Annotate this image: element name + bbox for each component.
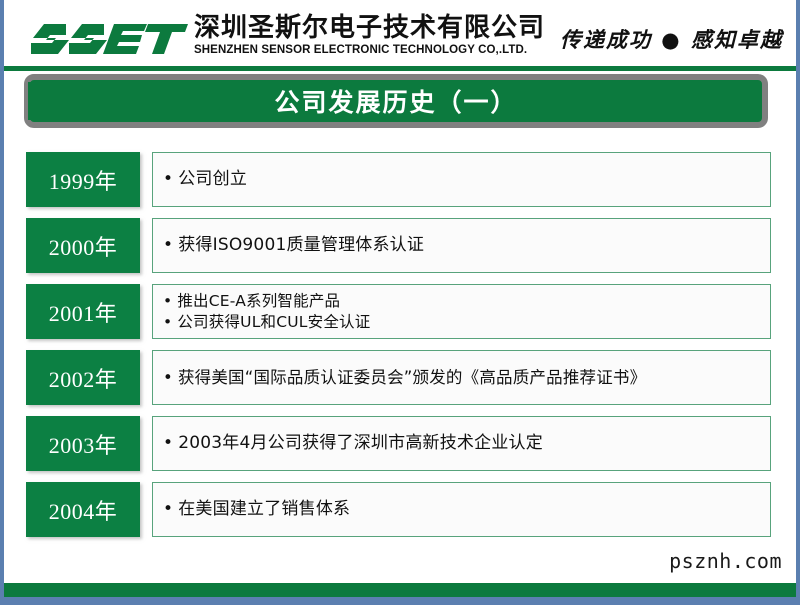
bullet-text: 在美国建立了销售体系	[178, 499, 350, 519]
bullet-item: •获得美国“国际品质认证委员会”颁发的《高品质产品推荐证书》	[163, 367, 770, 389]
sset-logo	[30, 18, 190, 60]
bullet-dot-icon: •	[163, 168, 173, 190]
content-box-2003: •2003年4月公司获得了深圳市高新技术企业认定	[152, 416, 771, 471]
year-chip-2003: 2003年	[26, 416, 140, 471]
year-label: 2002年	[49, 362, 118, 394]
bullet-item: •公司创立	[163, 168, 770, 190]
bullet-item: •在美国建立了销售体系	[163, 498, 770, 520]
content-box-2002: •获得美国“国际品质认证委员会”颁发的《高品质产品推荐证书》	[152, 350, 771, 405]
bullet-text: 推出CE-A系列智能产品	[177, 292, 340, 310]
bullet-dot-icon: •	[163, 312, 172, 333]
content-box-1999: •公司创立	[152, 152, 771, 207]
site-watermark: psznh.com	[669, 549, 782, 573]
company-name-cn: 深圳圣斯尔电子技术有限公司	[194, 14, 544, 42]
bullet-dot-icon: •	[163, 367, 173, 389]
year-label: 2000年	[49, 230, 118, 262]
bullet-item: •2003年4月公司获得了深圳市高新技术企业认定	[163, 432, 770, 454]
timeline-row: 2003年 •2003年4月公司获得了深圳市高新技术企业认定	[4, 416, 800, 471]
timeline-row: 2004年 •在美国建立了销售体系	[4, 482, 800, 537]
bullet-item: •推出CE-A系列智能产品	[163, 291, 770, 312]
timeline-row: 2002年 •获得美国“国际品质认证委员会”颁发的《高品质产品推荐证书》	[4, 350, 800, 405]
year-label: 2003年	[49, 428, 118, 460]
timeline-list: 1999年 •公司创立 2000年 •获得ISO9001质量管理体系认证 200…	[4, 152, 800, 548]
content-box-2001: •推出CE-A系列智能产品 •公司获得UL和CUL安全认证	[152, 284, 771, 339]
year-chip-2002: 2002年	[26, 350, 140, 405]
year-chip-2000: 2000年	[26, 218, 140, 273]
slide-canvas: 深圳圣斯尔电子技术有限公司 SHENZHEN SENSOR ELECTRONIC…	[0, 0, 800, 605]
year-label: 2001年	[49, 296, 118, 328]
bullet-text: 公司创立	[178, 169, 247, 189]
company-slogan: 传递成功 ● 感知卓越	[560, 24, 783, 54]
bullet-item: •获得ISO9001质量管理体系认证	[163, 234, 770, 256]
bullet-text: 获得美国“国际品质认证委员会”颁发的《高品质产品推荐证书》	[178, 368, 646, 387]
footer-blue-band	[4, 597, 796, 605]
content-box-2004: •在美国建立了销售体系	[152, 482, 771, 537]
timeline-row: 1999年 •公司创立	[4, 152, 800, 207]
year-chip-1999: 1999年	[26, 152, 140, 207]
bullet-item: •公司获得UL和CUL安全认证	[163, 312, 770, 333]
year-chip-2001: 2001年	[26, 284, 140, 339]
bullet-text: 2003年4月公司获得了深圳市高新技术企业认定	[178, 433, 543, 453]
bullet-dot-icon: •	[163, 291, 172, 312]
bullet-text: 公司获得UL和CUL安全认证	[177, 313, 370, 331]
page-header: 深圳圣斯尔电子技术有限公司 SHENZHEN SENSOR ELECTRONIC…	[4, 0, 796, 68]
year-label: 2004年	[49, 494, 118, 526]
footer-green-band	[4, 583, 796, 597]
year-label: 1999年	[49, 164, 118, 196]
content-box-2000: •获得ISO9001质量管理体系认证	[152, 218, 771, 273]
page-title: 公司发展历史（一）	[274, 83, 517, 119]
bullet-dot-icon: •	[163, 498, 173, 520]
timeline-row: 2001年 •推出CE-A系列智能产品 •公司获得UL和CUL安全认证	[4, 284, 800, 339]
year-chip-2004: 2004年	[26, 482, 140, 537]
company-name-block: 深圳圣斯尔电子技术有限公司 SHENZHEN SENSOR ELECTRONIC…	[194, 14, 544, 56]
header-divider-rule	[4, 66, 796, 71]
bullet-dot-icon: •	[163, 234, 173, 256]
bullet-dot-icon: •	[163, 432, 173, 454]
slide-title-banner: 公司发展历史（一）	[24, 74, 768, 128]
timeline-row: 2000年 •获得ISO9001质量管理体系认证	[4, 218, 800, 273]
company-name-en: SHENZHEN SENSOR ELECTRONIC TECHNOLOGY CO…	[194, 44, 544, 56]
bullet-text: 获得ISO9001质量管理体系认证	[178, 235, 424, 255]
